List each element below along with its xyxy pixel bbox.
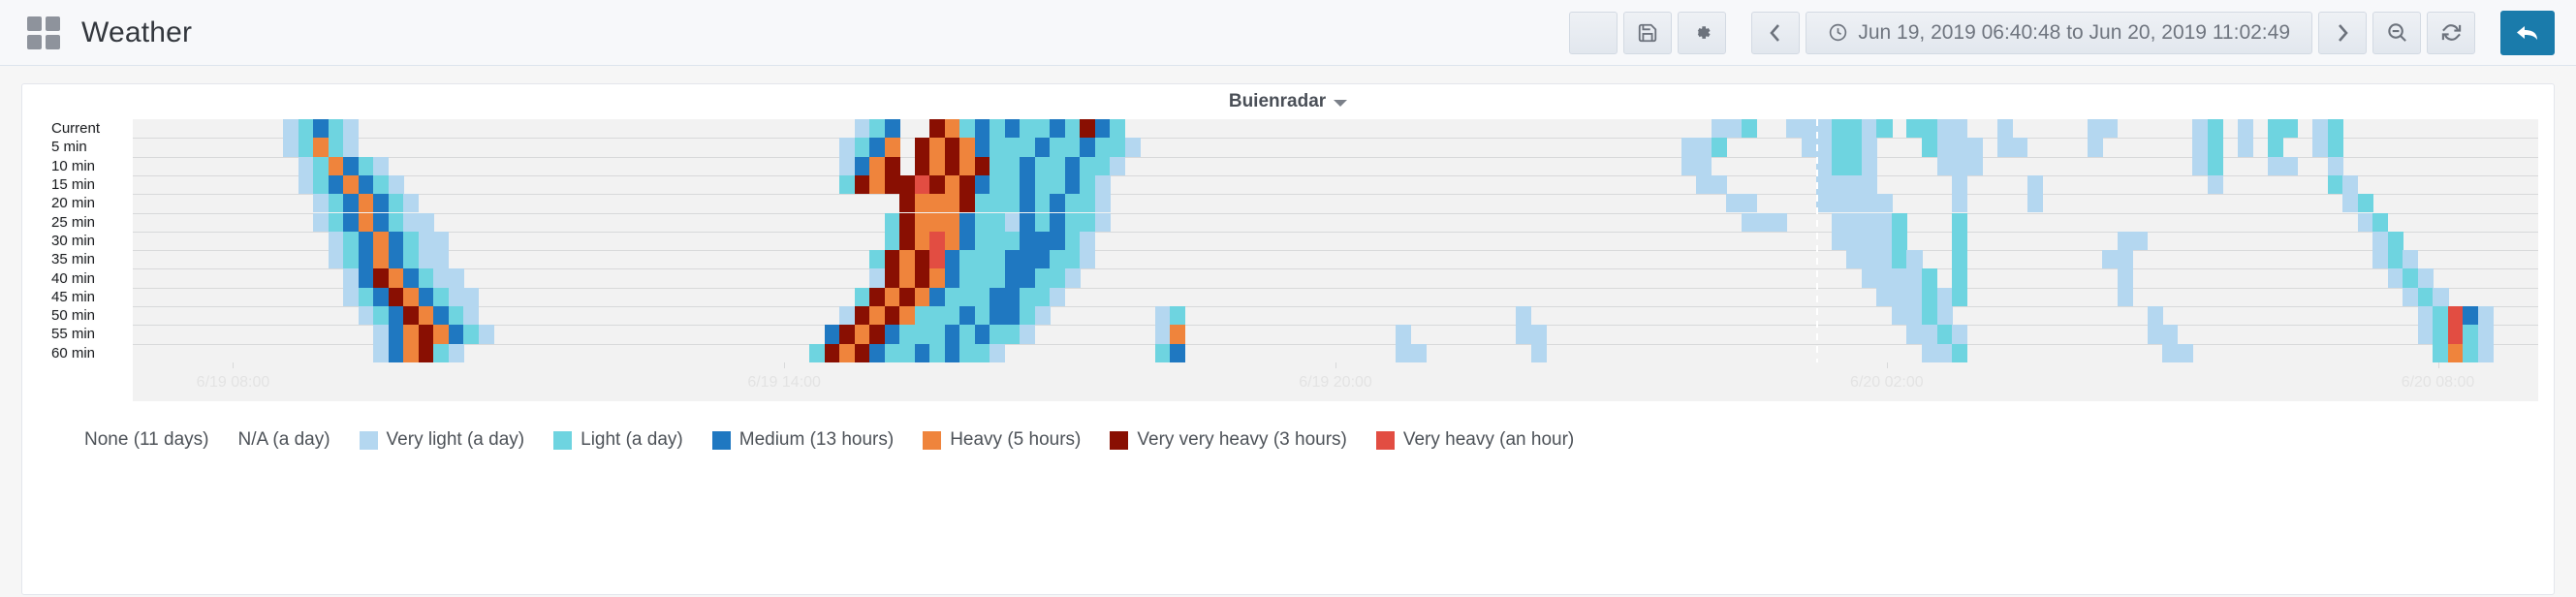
- heatmap-cell[interactable]: [1155, 344, 1171, 362]
- heatmap-cell[interactable]: [929, 268, 945, 287]
- heatmap-cell[interactable]: [1050, 175, 1065, 194]
- heatmap-cell[interactable]: [959, 213, 975, 232]
- heatmap-cell[interactable]: [389, 232, 404, 250]
- heatmap-cell[interactable]: [899, 268, 915, 287]
- heatmap-cell[interactable]: [1050, 138, 1065, 156]
- heatmap-cell[interactable]: [419, 288, 434, 306]
- heatmap-cell[interactable]: [1050, 288, 1065, 306]
- heatmap-cell[interactable]: [1712, 119, 1727, 138]
- heatmap-cell[interactable]: [2403, 288, 2418, 306]
- heatmap-cell[interactable]: [839, 325, 855, 343]
- heatmap-cell[interactable]: [329, 175, 344, 194]
- heatmap-cell[interactable]: [809, 344, 825, 362]
- heatmap-cell[interactable]: [2448, 344, 2464, 362]
- heatmap-cell[interactable]: [959, 175, 975, 194]
- heatmap-cell[interactable]: [329, 213, 344, 232]
- heatmap-cell[interactable]: [1035, 288, 1051, 306]
- heatmap-cell[interactable]: [1020, 306, 1035, 325]
- heatmap-cell[interactable]: [855, 119, 870, 138]
- heatmap-cell[interactable]: [2328, 175, 2343, 194]
- heatmap-cell[interactable]: [403, 250, 419, 268]
- heatmap-cell[interactable]: [2118, 232, 2133, 250]
- heatmap-cell[interactable]: [1832, 194, 1847, 212]
- heatmap-cell[interactable]: [1876, 119, 1892, 138]
- heatmap-cell[interactable]: [1967, 157, 1983, 175]
- heatmap-cell[interactable]: [899, 288, 915, 306]
- heatmap-cell[interactable]: [2268, 119, 2283, 138]
- legend-item[interactable]: None (11 days): [84, 429, 209, 451]
- heatmap-cell[interactable]: [1846, 157, 1862, 175]
- heatmap-cell[interactable]: [1696, 138, 1712, 156]
- heatmap-cell[interactable]: [389, 175, 404, 194]
- heatmap-cell[interactable]: [373, 175, 389, 194]
- heatmap-cell[interactable]: [990, 325, 1005, 343]
- heatmap-cell[interactable]: [1050, 194, 1065, 212]
- heatmap-cell[interactable]: [1065, 250, 1081, 268]
- heatmap-cell[interactable]: [1952, 138, 1967, 156]
- heatmap-cell[interactable]: [929, 157, 945, 175]
- heatmap-cell[interactable]: [343, 213, 359, 232]
- heatmap-cell[interactable]: [1170, 325, 1185, 343]
- heatmap-cell[interactable]: [1681, 138, 1697, 156]
- heatmap-cell[interactable]: [945, 119, 960, 138]
- heatmap-cell[interactable]: [2132, 232, 2148, 250]
- heatmap-cell[interactable]: [1050, 119, 1065, 138]
- heatmap-cell[interactable]: [959, 119, 975, 138]
- heatmap-cell[interactable]: [990, 194, 1005, 212]
- legend-item[interactable]: Very light (a day): [360, 429, 525, 451]
- heatmap-cell[interactable]: [1937, 157, 1953, 175]
- heatmap-cell[interactable]: [1876, 250, 1892, 268]
- heatmap-cell[interactable]: [975, 213, 990, 232]
- heatmap-cell[interactable]: [1050, 232, 1065, 250]
- heatmap-cell[interactable]: [433, 306, 449, 325]
- heatmap-cell[interactable]: [855, 325, 870, 343]
- heatmap-cell[interactable]: [1020, 138, 1035, 156]
- heatmap-cell[interactable]: [343, 194, 359, 212]
- blank-button[interactable]: [1569, 12, 1618, 54]
- heatmap-cell[interactable]: [343, 138, 359, 156]
- heatmap-cell[interactable]: [1035, 175, 1051, 194]
- heatmap-cell[interactable]: [1095, 175, 1111, 194]
- heatmap-cell[interactable]: [2192, 119, 2208, 138]
- heatmap-cell[interactable]: [915, 175, 930, 194]
- heatmap-cell[interactable]: [915, 268, 930, 287]
- heatmap-cell[interactable]: [1832, 157, 1847, 175]
- heatmap-cell[interactable]: [959, 194, 975, 212]
- heatmap-cell[interactable]: [403, 344, 419, 362]
- chevron-down-icon[interactable]: [1334, 100, 1347, 107]
- panel-header[interactable]: Buienradar: [22, 84, 2554, 119]
- heatmap-cell[interactable]: [1095, 213, 1111, 232]
- heatmap-cell[interactable]: [419, 213, 434, 232]
- heatmap-cell[interactable]: [1005, 232, 1021, 250]
- heatmap-cell[interactable]: [1952, 119, 1967, 138]
- heatmap-cell[interactable]: [2208, 157, 2223, 175]
- heatmap-cell[interactable]: [2342, 175, 2358, 194]
- heatmap-cell[interactable]: [2418, 268, 2434, 287]
- heatmap-cell[interactable]: [1922, 288, 1937, 306]
- heatmap-cell[interactable]: [899, 175, 915, 194]
- heatmap-cell[interactable]: [945, 213, 960, 232]
- heatmap-cell[interactable]: [419, 344, 434, 362]
- heatmap-cell[interactable]: [1396, 325, 1411, 343]
- heatmap-cell[interactable]: [1802, 138, 1817, 156]
- heatmap-cell[interactable]: [975, 344, 990, 362]
- heatmap-cell[interactable]: [1802, 119, 1817, 138]
- heatmap-cell[interactable]: [373, 250, 389, 268]
- heatmap-cell[interactable]: [2478, 306, 2494, 325]
- heatmap-cell[interactable]: [373, 306, 389, 325]
- heatmap-cell[interactable]: [1110, 157, 1125, 175]
- time-prev-button[interactable]: [1751, 12, 1800, 54]
- heatmap-cell[interactable]: [1862, 194, 1877, 212]
- heatmap-cell[interactable]: [929, 194, 945, 212]
- heatmap-cell[interactable]: [929, 175, 945, 194]
- heatmap-cell[interactable]: [839, 344, 855, 362]
- heatmap-cell[interactable]: [839, 138, 855, 156]
- heatmap-cell[interactable]: [1922, 138, 1937, 156]
- heatmap-cell[interactable]: [1816, 157, 1832, 175]
- heatmap-cell[interactable]: [1095, 194, 1111, 212]
- heatmap-cell[interactable]: [899, 194, 915, 212]
- heatmap-cell[interactable]: [359, 250, 374, 268]
- heatmap-cell[interactable]: [479, 325, 494, 343]
- legend-item[interactable]: Very very heavy (3 hours): [1110, 429, 1346, 451]
- heatmap-cell[interactable]: [855, 344, 870, 362]
- heatmap-cell[interactable]: [389, 288, 404, 306]
- heatmap-cell[interactable]: [449, 306, 464, 325]
- heatmap-cell[interactable]: [359, 213, 374, 232]
- heatmap-cell[interactable]: [298, 138, 314, 156]
- heatmap-cell[interactable]: [1516, 325, 1531, 343]
- heatmap-cell[interactable]: [1396, 344, 1411, 362]
- heatmap-cell[interactable]: [990, 232, 1005, 250]
- heatmap-cell[interactable]: [869, 119, 885, 138]
- heatmap-cell[interactable]: [1065, 119, 1081, 138]
- heatmap-cell[interactable]: [915, 325, 930, 343]
- heatmap-cell[interactable]: [945, 194, 960, 212]
- heatmap-cell[interactable]: [1952, 288, 1967, 306]
- heatmap-cell[interactable]: [419, 250, 434, 268]
- heatmap-cell[interactable]: [1862, 213, 1877, 232]
- heatmap-cell[interactable]: [1095, 157, 1111, 175]
- heatmap-cell[interactable]: [945, 175, 960, 194]
- heatmap-cell[interactable]: [975, 288, 990, 306]
- heatmap-cell[interactable]: [1170, 306, 1185, 325]
- heatmap-cell[interactable]: [373, 288, 389, 306]
- heatmap-cell[interactable]: [1922, 268, 1937, 287]
- heatmap-cell[interactable]: [1952, 325, 1967, 343]
- heatmap-cell[interactable]: [2088, 138, 2103, 156]
- heatmap-cell[interactable]: [1080, 232, 1095, 250]
- heatmap-cell[interactable]: [975, 232, 990, 250]
- heatmap-cell[interactable]: [1050, 268, 1065, 287]
- heatmap-cell[interactable]: [433, 325, 449, 343]
- heatmap-cell[interactable]: [899, 250, 915, 268]
- heatmap-cell[interactable]: [463, 288, 479, 306]
- heatmap-cell[interactable]: [1080, 157, 1095, 175]
- heatmap-cell[interactable]: [1892, 288, 1907, 306]
- heatmap-cell[interactable]: [1050, 157, 1065, 175]
- heatmap-cell[interactable]: [2418, 306, 2434, 325]
- heatmap-cell[interactable]: [1832, 232, 1847, 250]
- heatmap-cell[interactable]: [2148, 325, 2163, 343]
- heatmap-cell[interactable]: [1862, 268, 1877, 287]
- heatmap-cell[interactable]: [1742, 119, 1757, 138]
- heatmap-cell[interactable]: [1080, 250, 1095, 268]
- heatmap-cell[interactable]: [990, 157, 1005, 175]
- heatmap-cell[interactable]: [1065, 268, 1081, 287]
- heatmap-cell[interactable]: [885, 250, 900, 268]
- legend-item[interactable]: Medium (13 hours): [712, 429, 894, 451]
- heatmap-cell[interactable]: [1742, 194, 1757, 212]
- heatmap-cell[interactable]: [1846, 213, 1862, 232]
- heatmap-cell[interactable]: [825, 344, 840, 362]
- heatmap-cell[interactable]: [313, 194, 329, 212]
- heatmap-cell[interactable]: [2478, 325, 2494, 343]
- heatmap-cell[interactable]: [915, 138, 930, 156]
- heatmap-cell[interactable]: [2238, 138, 2253, 156]
- heatmap-cell[interactable]: [2478, 344, 2494, 362]
- heatmap-cell[interactable]: [389, 250, 404, 268]
- heatmap-cell[interactable]: [2027, 194, 2043, 212]
- heatmap-cell[interactable]: [1922, 325, 1937, 343]
- heatmap-cell[interactable]: [2358, 194, 2373, 212]
- heatmap-cell[interactable]: [2312, 119, 2328, 138]
- heatmap-cell[interactable]: [1035, 268, 1051, 287]
- heatmap-cell[interactable]: [929, 250, 945, 268]
- zoom-out-button[interactable]: [2372, 12, 2421, 54]
- heatmap-cell[interactable]: [1952, 213, 1967, 232]
- heatmap-cell[interactable]: [1065, 175, 1081, 194]
- heatmap-cell[interactable]: [298, 175, 314, 194]
- heatmap-cell[interactable]: [403, 288, 419, 306]
- heatmap-cell[interactable]: [2403, 268, 2418, 287]
- heatmap-cell[interactable]: [2433, 288, 2448, 306]
- heatmap-cell[interactable]: [929, 344, 945, 362]
- heatmap-cell[interactable]: [1892, 306, 1907, 325]
- legend-item[interactable]: Very heavy (an hour): [1376, 429, 1574, 451]
- heatmap-cell[interactable]: [1892, 232, 1907, 250]
- time-range-picker[interactable]: Jun 19, 2019 06:40:48 to Jun 20, 2019 11…: [1806, 12, 2312, 54]
- heatmap-cell[interactable]: [915, 232, 930, 250]
- heatmap-cell[interactable]: [313, 175, 329, 194]
- heatmap-cell[interactable]: [2328, 157, 2343, 175]
- heatmap-cell[interactable]: [403, 194, 419, 212]
- heatmap-cell[interactable]: [2328, 138, 2343, 156]
- heatmap-cell[interactable]: [2418, 288, 2434, 306]
- heatmap-cell[interactable]: [1020, 288, 1035, 306]
- heatmap-cell[interactable]: [1952, 344, 1967, 362]
- heatmap-cell[interactable]: [1937, 306, 1953, 325]
- heatmap-cell[interactable]: [1005, 194, 1021, 212]
- heatmap-cell[interactable]: [359, 194, 374, 212]
- heatmap-cell[interactable]: [2312, 138, 2328, 156]
- heatmap-cell[interactable]: [1531, 325, 1547, 343]
- heatmap-cell[interactable]: [373, 232, 389, 250]
- heatmap-cell[interactable]: [990, 175, 1005, 194]
- heatmap-cell[interactable]: [1005, 288, 1021, 306]
- heatmap-cell[interactable]: [389, 344, 404, 362]
- heatmap-cell[interactable]: [929, 213, 945, 232]
- heatmap-cell[interactable]: [389, 325, 404, 343]
- heatmap-cell[interactable]: [283, 138, 298, 156]
- heatmap-cell[interactable]: [2268, 138, 2283, 156]
- heatmap-cell[interactable]: [313, 138, 329, 156]
- heatmap-cell[interactable]: [2102, 250, 2118, 268]
- heatmap-cell[interactable]: [1937, 119, 1953, 138]
- heatmap-cell[interactable]: [959, 232, 975, 250]
- heatmap-cell[interactable]: [899, 306, 915, 325]
- heatmap-cell[interactable]: [885, 213, 900, 232]
- heatmap-cell[interactable]: [1020, 325, 1035, 343]
- heatmap-cell[interactable]: [359, 288, 374, 306]
- heatmap-cell[interactable]: [1035, 232, 1051, 250]
- heatmap-cell[interactable]: [329, 138, 344, 156]
- heatmap-cell[interactable]: [1906, 268, 1922, 287]
- heatmap-cell[interactable]: [433, 250, 449, 268]
- back-button[interactable]: [2500, 11, 2555, 55]
- heatmap-cell[interactable]: [975, 138, 990, 156]
- heatmap-cell[interactable]: [343, 268, 359, 287]
- heatmap-cell[interactable]: [1846, 119, 1862, 138]
- heatmap-cell[interactable]: [1005, 250, 1021, 268]
- heatmap-cell[interactable]: [929, 325, 945, 343]
- heatmap-cell[interactable]: [2448, 325, 2464, 343]
- heatmap-cell[interactable]: [313, 213, 329, 232]
- heatmap-cell[interactable]: [313, 157, 329, 175]
- heatmap-cell[interactable]: [869, 157, 885, 175]
- heatmap-cell[interactable]: [373, 344, 389, 362]
- heatmap-cell[interactable]: [959, 306, 975, 325]
- heatmap-cell[interactable]: [283, 119, 298, 138]
- heatmap-cell[interactable]: [389, 306, 404, 325]
- heatmap-cell[interactable]: [975, 119, 990, 138]
- heatmap-cell[interactable]: [2268, 157, 2283, 175]
- heatmap-cell[interactable]: [1020, 250, 1035, 268]
- heatmap-cell[interactable]: [1020, 232, 1035, 250]
- heatmap-cell[interactable]: [2118, 250, 2133, 268]
- heatmap-cell[interactable]: [1020, 175, 1035, 194]
- heatmap-cell[interactable]: [2463, 344, 2478, 362]
- heatmap-cell[interactable]: [2208, 138, 2223, 156]
- heatmap-cell[interactable]: [2208, 175, 2223, 194]
- heatmap-cell[interactable]: [1020, 194, 1035, 212]
- refresh-button[interactable]: [2427, 12, 2475, 54]
- heatmap-cell[interactable]: [1997, 138, 2013, 156]
- heatmap-cell[interactable]: [1846, 250, 1862, 268]
- heatmap-cell[interactable]: [990, 213, 1005, 232]
- heatmap-cell[interactable]: [403, 232, 419, 250]
- heatmap-cell[interactable]: [433, 344, 449, 362]
- heatmap-cell[interactable]: [929, 119, 945, 138]
- heatmap-cell[interactable]: [1050, 213, 1065, 232]
- heatmap-cell[interactable]: [959, 344, 975, 362]
- heatmap-cell[interactable]: [419, 268, 434, 287]
- heatmap-cell[interactable]: [1952, 250, 1967, 268]
- heatmap-cell[interactable]: [1080, 119, 1095, 138]
- heatmap-cell[interactable]: [899, 232, 915, 250]
- heatmap-cell[interactable]: [2358, 213, 2373, 232]
- heatmap-cell[interactable]: [1155, 325, 1171, 343]
- heatmap-cell[interactable]: [1035, 213, 1051, 232]
- heatmap-cell[interactable]: [1155, 306, 1171, 325]
- heatmap-cell[interactable]: [959, 157, 975, 175]
- heatmap-cell[interactable]: [1862, 119, 1877, 138]
- heatmap-cell[interactable]: [1696, 157, 1712, 175]
- heatmap-cell[interactable]: [885, 119, 900, 138]
- heatmap-cell[interactable]: [959, 250, 975, 268]
- heatmap-cell[interactable]: [1742, 213, 1757, 232]
- heatmap-cell[interactable]: [1712, 138, 1727, 156]
- heatmap-cell[interactable]: [885, 157, 900, 175]
- heatmap-cell[interactable]: [975, 325, 990, 343]
- heatmap-cell[interactable]: [2162, 344, 2178, 362]
- heatmap-cell[interactable]: [915, 157, 930, 175]
- heatmap-cell[interactable]: [329, 119, 344, 138]
- heatmap-cell[interactable]: [1035, 306, 1051, 325]
- heatmap-cell[interactable]: [329, 157, 344, 175]
- heatmap-cell[interactable]: [2208, 119, 2223, 138]
- heatmap-cell[interactable]: [1020, 213, 1035, 232]
- heatmap-cell[interactable]: [1035, 157, 1051, 175]
- heatmap-cell[interactable]: [1065, 157, 1081, 175]
- heatmap-cell[interactable]: [885, 268, 900, 287]
- heatmap-cell[interactable]: [359, 306, 374, 325]
- heatmap-cell[interactable]: [329, 194, 344, 212]
- heatmap-cell[interactable]: [885, 175, 900, 194]
- heatmap-cell[interactable]: [1952, 175, 1967, 194]
- heatmap-cell[interactable]: [1862, 157, 1877, 175]
- heatmap-cell[interactable]: [959, 138, 975, 156]
- heatmap-cell[interactable]: [2388, 250, 2403, 268]
- heatmap-cell[interactable]: [343, 119, 359, 138]
- heatmap-cell[interactable]: [403, 325, 419, 343]
- heatmap-cell[interactable]: [2238, 119, 2253, 138]
- legend-item[interactable]: Light (a day): [553, 429, 683, 451]
- heatmap-cell[interactable]: [2328, 119, 2343, 138]
- heatmap-cell[interactable]: [1922, 344, 1937, 362]
- heatmap-cell[interactable]: [2118, 268, 2133, 287]
- heatmap-cell[interactable]: [1110, 119, 1125, 138]
- heatmap-cell[interactable]: [839, 157, 855, 175]
- heatmap-cell[interactable]: [945, 250, 960, 268]
- heatmap-cell[interactable]: [990, 288, 1005, 306]
- heatmap-cell[interactable]: [1681, 157, 1697, 175]
- heatmap-cell[interactable]: [1952, 194, 1967, 212]
- heatmap-cell[interactable]: [915, 194, 930, 212]
- heatmap-cell[interactable]: [1832, 119, 1847, 138]
- heatmap-cell[interactable]: [2388, 268, 2403, 287]
- heatmap-cell[interactable]: [1005, 213, 1021, 232]
- heatmap-cell[interactable]: [885, 232, 900, 250]
- heatmap-cell[interactable]: [1816, 194, 1832, 212]
- heatmap-cell[interactable]: [855, 175, 870, 194]
- heatmap-cell[interactable]: [1906, 119, 1922, 138]
- heatmap-cell[interactable]: [839, 306, 855, 325]
- heatmap-cell[interactable]: [945, 232, 960, 250]
- heatmap-cell[interactable]: [298, 157, 314, 175]
- heatmap-cell[interactable]: [1080, 194, 1095, 212]
- heatmap-cell[interactable]: [1937, 288, 1953, 306]
- heatmap-cell[interactable]: [1876, 232, 1892, 250]
- heatmap-cell[interactable]: [1816, 119, 1832, 138]
- heatmap-cell[interactable]: [2027, 175, 2043, 194]
- heatmap-cell[interactable]: [343, 157, 359, 175]
- heatmap-cell[interactable]: [1906, 306, 1922, 325]
- heatmap-cell[interactable]: [990, 306, 1005, 325]
